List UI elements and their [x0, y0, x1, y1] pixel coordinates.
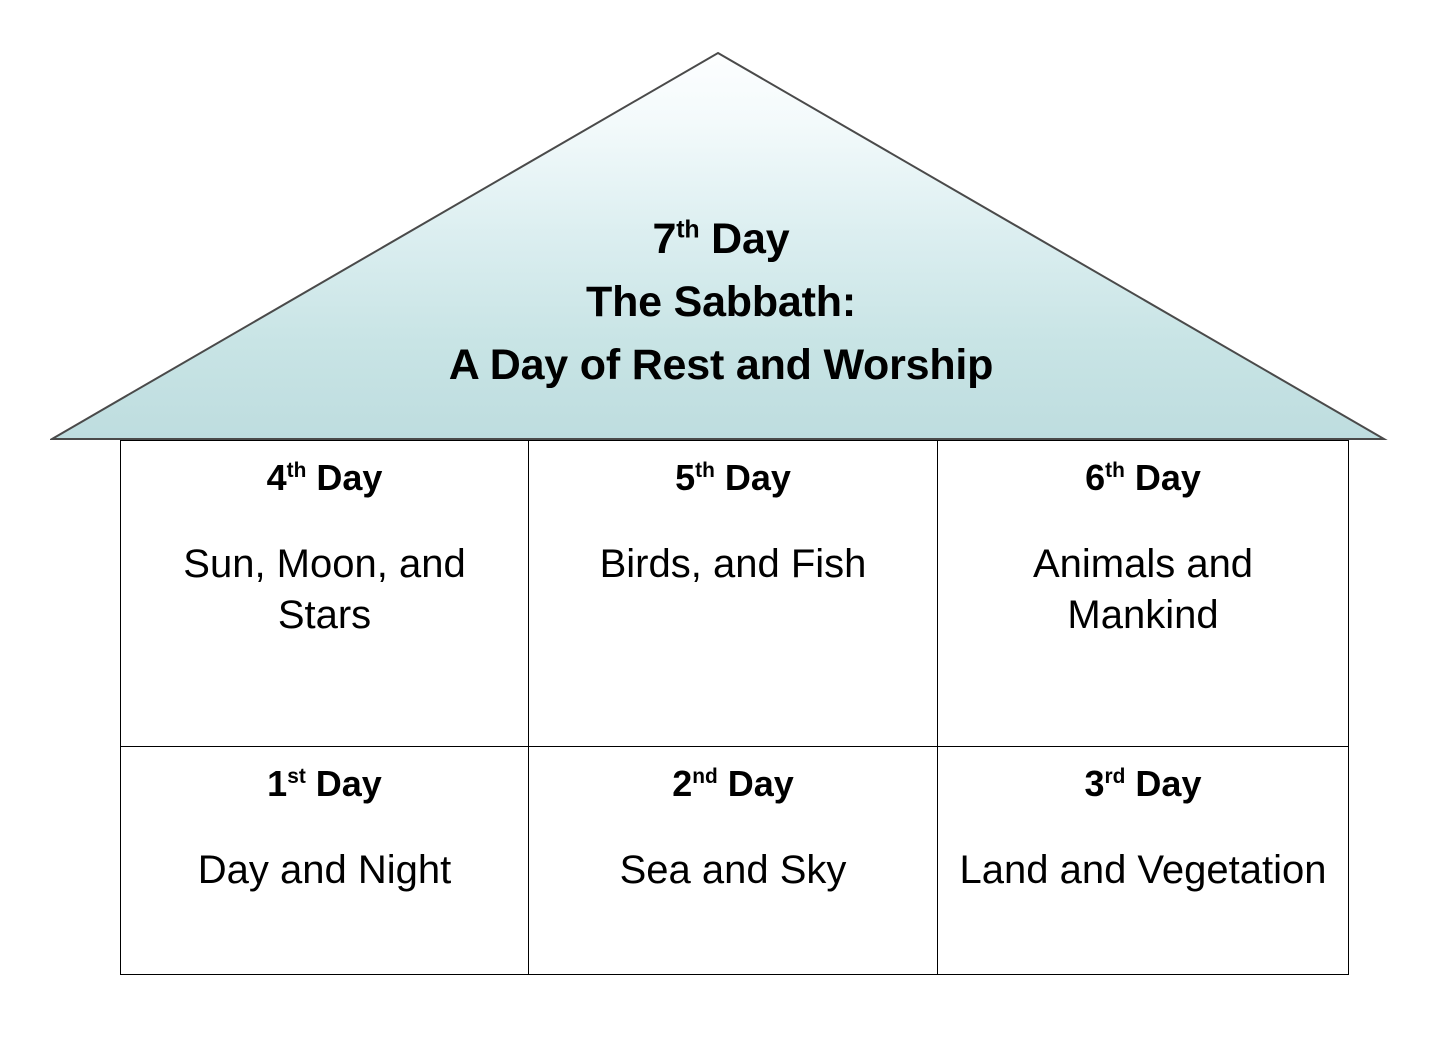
- table-row-upper: 4th Day Sun, Moon, and Stars 5th Day Bir…: [121, 441, 1349, 747]
- cell-day-2-title: 2nd Day: [545, 761, 921, 807]
- cell-day-1[interactable]: 1st Day Day and Night: [121, 746, 529, 974]
- cell-day-5-number: 5: [675, 457, 695, 498]
- cell-day-6-inner: 6th Day Animals and Mankind: [938, 441, 1348, 641]
- cell-day-6-number: 6: [1085, 457, 1105, 498]
- cell-day-2-suffix: Day: [718, 763, 794, 804]
- roof-line-1-rest: Day: [699, 215, 789, 263]
- roof-line-1-ordinal: th: [676, 216, 699, 244]
- cell-day-4[interactable]: 4th Day Sun, Moon, and Stars: [121, 441, 529, 747]
- cell-day-4-title: 4th Day: [137, 455, 512, 501]
- cell-day-3-inner: 3rd Day Land and Vegetation: [938, 747, 1348, 896]
- cell-day-4-body: Sun, Moon, and Stars: [137, 539, 512, 641]
- roof-line-1: 7th Day: [50, 208, 1392, 271]
- cell-day-5-ordinal: th: [695, 459, 715, 482]
- cell-day-3-number: 3: [1085, 763, 1105, 804]
- cell-day-4-suffix: Day: [306, 457, 382, 498]
- cell-day-4-ordinal: th: [287, 459, 307, 482]
- cell-day-6-title: 6th Day: [954, 455, 1332, 501]
- cell-day-5-title: 5th Day: [545, 455, 921, 501]
- cell-day-3-body: Land and Vegetation: [954, 845, 1332, 896]
- cell-day-3[interactable]: 3rd Day Land and Vegetation: [938, 746, 1349, 974]
- cell-day-2-ordinal: nd: [692, 765, 718, 788]
- roof-line-1-number: 7: [653, 215, 677, 263]
- cell-day-6-body: Animals and Mankind: [954, 539, 1332, 641]
- cell-day-3-suffix: Day: [1125, 763, 1201, 804]
- cell-day-6-ordinal: th: [1105, 459, 1125, 482]
- cell-day-3-title: 3rd Day: [954, 761, 1332, 807]
- diagram-canvas: 7th Day The Sabbath: A Day of Rest and W…: [0, 0, 1440, 1056]
- cell-day-4-inner: 4th Day Sun, Moon, and Stars: [121, 441, 528, 641]
- cell-day-1-number: 1: [267, 763, 287, 804]
- table-row-lower: 1st Day Day and Night 2nd Day Sea and Sk…: [121, 746, 1349, 974]
- cell-day-4-number: 4: [267, 457, 287, 498]
- cell-day-1-title: 1st Day: [137, 761, 512, 807]
- cell-day-6[interactable]: 6th Day Animals and Mankind: [938, 441, 1349, 747]
- roof-line-2: The Sabbath:: [50, 271, 1392, 334]
- cell-day-5-inner: 5th Day Birds, and Fish: [529, 441, 937, 590]
- cell-day-2-body: Sea and Sky: [545, 845, 921, 896]
- cell-day-6-suffix: Day: [1125, 457, 1201, 498]
- cell-day-5[interactable]: 5th Day Birds, and Fish: [529, 441, 938, 747]
- cell-day-2-inner: 2nd Day Sea and Sky: [529, 747, 937, 896]
- cell-day-3-ordinal: rd: [1105, 765, 1126, 788]
- cell-day-1-suffix: Day: [306, 763, 382, 804]
- creation-days-table: 4th Day Sun, Moon, and Stars 5th Day Bir…: [120, 440, 1349, 975]
- cell-day-2[interactable]: 2nd Day Sea and Sky: [529, 746, 938, 974]
- cell-day-5-suffix: Day: [715, 457, 791, 498]
- cell-day-2-number: 2: [672, 763, 692, 804]
- cell-day-1-inner: 1st Day Day and Night: [121, 747, 528, 896]
- roof-line-3: A Day of Rest and Worship: [50, 334, 1392, 397]
- cell-day-5-body: Birds, and Fish: [545, 539, 921, 590]
- roof-title-block: 7th Day The Sabbath: A Day of Rest and W…: [50, 208, 1392, 397]
- cell-day-1-body: Day and Night: [137, 845, 512, 896]
- cell-day-1-ordinal: st: [287, 765, 306, 788]
